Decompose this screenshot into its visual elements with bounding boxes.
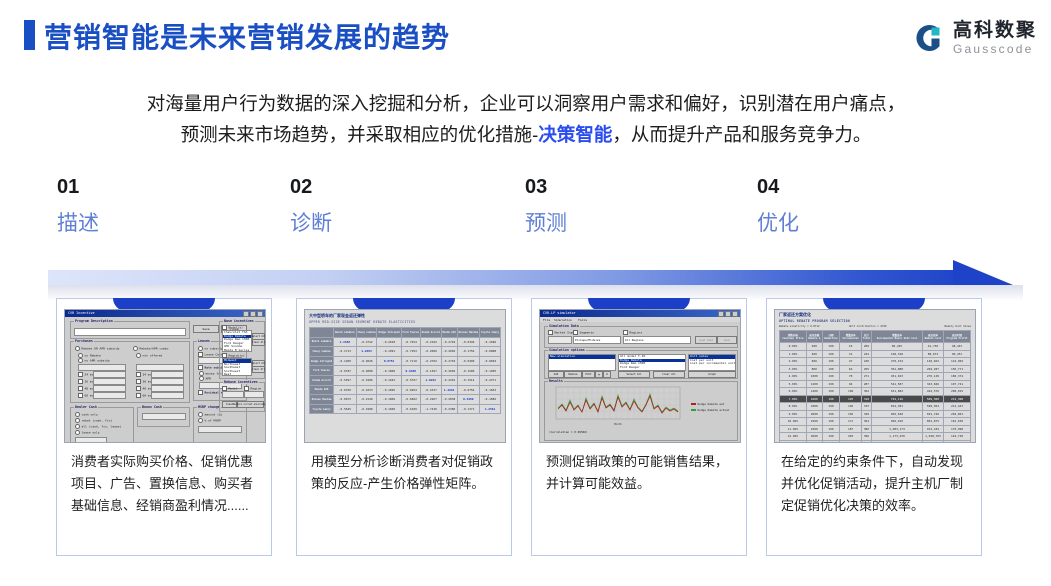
matrix-cell: -0.2794 <box>441 356 457 366</box>
logo-text: 高科数聚 Gausscode <box>953 21 1037 55</box>
matrix-row-header: Toyota Camry <box>310 404 334 414</box>
matrix-cell: -0.1642 <box>377 375 401 385</box>
matrix-cell: -0.5645 <box>334 404 357 414</box>
table-row: Honda Accord-0.5497-0.1986-0.1642-0.5767… <box>310 375 501 385</box>
optimal-cell: 364 <box>861 418 871 426</box>
optimal-cell: 451,023 <box>872 373 923 381</box>
table-row: Dodge Intrepid-0.1206-0.20260.8752-0.711… <box>310 356 501 366</box>
optimal-cell: 208,815 <box>944 388 971 396</box>
matrix-cell: 1.2683 <box>356 347 377 357</box>
optimal-meta-left: Rebate elasticity = 0.8712 <box>779 325 820 328</box>
matrix-col-header: Chevy Lumina <box>356 328 377 338</box>
optimal-cell: 10.00% <box>780 418 807 426</box>
intro-paragraph: 对海量用户行为数据的深入挖掘和分析，企业可以洞察用户需求和偏好，识别潜在用户痛点… <box>46 88 1006 150</box>
paragraph-line-2-before: 预测未来市场趋势，并采取相应的优化措施- <box>181 124 539 145</box>
group-rebase-incentives: Rebase incentives Model Region Clear Res… <box>219 382 265 412</box>
table-row: 12.00%26001902033961,173,4391,028,703144… <box>780 433 971 441</box>
matrix-col-header: Buick LaSabre <box>334 328 357 338</box>
optimal-cell: 912,184 <box>922 425 943 433</box>
matrix-row-header: Ford Taurus <box>310 366 334 376</box>
matrix-row-header: Honda Accord <box>310 375 334 385</box>
matrix-cell: -0.2669 <box>441 366 457 376</box>
matrix-cell: -0.7254 <box>401 337 420 347</box>
optimal-cell: 13.00% <box>780 440 807 443</box>
optimal-meta-right: Weekly Unit Sales <box>944 325 971 328</box>
optimal-cell: 197,741 <box>944 380 971 388</box>
progress-arrow <box>48 264 1013 292</box>
optimal-cell: 318 <box>861 395 871 403</box>
table-row: 6.00%1400190109302631,882422,570208,815 <box>780 388 971 396</box>
group-purchases: Purchases Rebate OR APR subsidy Rebate/A… <box>70 341 190 403</box>
logo-chinese-name: 高科数聚 <box>953 21 1037 40</box>
optimal-col-header: 返还利润Program Profit <box>944 331 971 343</box>
matrix-row-header: Mazda 626 <box>310 385 334 395</box>
matrix-cell: -0.1663 <box>480 385 501 395</box>
matrix-cell: -0.2606 <box>420 347 441 357</box>
matrix-row-header: Dodge Intrepid <box>310 356 334 366</box>
matrix-cell: -0.7110 <box>401 356 420 366</box>
matrix-cell: -0.1091 <box>377 347 401 357</box>
group-program-description: Program Description <box>70 321 190 339</box>
optimal-cell: 361,088 <box>872 365 923 373</box>
optimal-cell: 2200 <box>806 418 822 426</box>
optimal-cell: 6.00% <box>780 388 807 396</box>
matrix-cell: -0.2838 <box>441 395 457 405</box>
optimal-cell: 422,570 <box>922 388 943 396</box>
mini-titlebar: CVR-LP simulator <box>540 310 740 317</box>
table-row: 0.00%2001901620990,24541,73048,447 <box>780 343 971 351</box>
card-caption: 预测促销政策的可能销售结果，并计算可能效益。 <box>546 451 734 495</box>
optimal-cell: 156 <box>840 410 861 418</box>
optimal-cell: 801,875 <box>922 418 943 426</box>
optimal-cell: 90,245 <box>872 343 923 351</box>
optimal-cell: 88,672 <box>922 350 943 358</box>
optimal-meta-mid: Unit Contribution = $790 <box>849 325 886 328</box>
optimal-cell: 109 <box>840 388 861 396</box>
optimal-cell: 992,910 <box>872 418 923 426</box>
optimal-cell: 16 <box>840 343 861 351</box>
table-row: 4.00%100019078271451,023270,149180,374 <box>780 373 971 381</box>
matrix-cell: -0.1756 <box>457 347 480 357</box>
table-row: Nissan Maxima-0.6675-0.2149-0.1869-0.606… <box>310 395 501 405</box>
matrix-cell: -0.1905 <box>480 366 501 376</box>
optimal-cell: 722,116 <box>872 395 923 403</box>
card-screenshot-simulation: CVR-LP simulator File Simulation Tools S… <box>539 309 741 443</box>
matrix-cell: 1.1691 <box>441 385 457 395</box>
menu-file[interactable]: File <box>543 318 550 322</box>
optimal-cell: 47 <box>840 358 861 366</box>
matrix-cell: -0.1882 <box>480 395 501 405</box>
optimal-cell: 125 <box>840 395 861 403</box>
optimal-cell: 181,036 <box>944 418 971 426</box>
optimal-cell: 599,954 <box>922 403 943 411</box>
optimal-col-header: 销售价格Customer Price <box>780 331 807 343</box>
matrix-cell: -0.6766 <box>334 385 357 395</box>
optimal-cell: 170,990 <box>944 425 971 433</box>
matrix-cell: -0.2192 <box>420 337 441 347</box>
step-label: 描述 <box>57 211 287 237</box>
optimal-cell: 1,263,703 <box>872 440 923 443</box>
step-item-04: 04 优化 <box>757 176 987 237</box>
slide-header: 营销智能是未来营销发展的趋势 高科数聚 Gausscode <box>0 0 1051 72</box>
optimal-cell: 140,462 <box>922 358 943 366</box>
matrix-cell: -0.2018 <box>377 337 401 347</box>
optimal-cell: 204,861 <box>944 410 971 418</box>
slide-root: 营销智能是未来营销发展的趋势 高科数聚 Gausscode 对海量用户行为数据的… <box>0 0 1051 586</box>
optimal-cell: 200 <box>806 343 822 351</box>
optimal-cell: 171 <box>840 418 861 426</box>
matrix-col-header: Toyota Camry <box>480 328 501 338</box>
optimal-cell: 400 <box>806 350 822 358</box>
matrix-cell: -0.0490 <box>457 356 480 366</box>
group-simulation-options: Simulation options New simulation All mo… <box>544 350 738 379</box>
optimal-cell: 204,287 <box>922 365 943 373</box>
matrix-row-header: Nissan Maxima <box>310 395 334 405</box>
matrix-cell: -0.6189 <box>401 404 420 414</box>
optimal-cell: 691,746 <box>922 410 943 418</box>
matrix-cell: -0.2149 <box>356 395 377 405</box>
optimal-cell: 190 <box>822 350 840 358</box>
step-item-02: 02 诊断 <box>290 176 520 237</box>
matrix-cell: -0.7293 <box>401 347 420 357</box>
optimal-cell: 1,173,439 <box>872 433 923 441</box>
optimal-cell: 12.00% <box>780 433 807 441</box>
matrix-cell: 0.8752 <box>377 356 401 366</box>
optimal-cell: 31 <box>840 350 861 358</box>
model-listbox[interactable]: Chevrolet TSX Dodge Dakota Dodge Ram 150… <box>222 330 252 352</box>
menu-simulation[interactable]: Simulation <box>554 318 572 322</box>
matrix-row-header: Buick LaSabre <box>310 337 334 347</box>
optimal-cell: 78 <box>840 373 861 381</box>
optimal-cell: 2.00% <box>780 358 807 366</box>
group-results: Results <box>544 381 738 441</box>
optimal-col-header: 返还成本Rebate Cost <box>922 331 943 343</box>
matrix-cell: 1.0292 <box>420 375 441 385</box>
step-label: 诊断 <box>290 211 520 237</box>
optimal-cell: 41,730 <box>922 343 943 351</box>
optimal-cell: 212,427 <box>944 403 971 411</box>
optimal-cell: 190 <box>822 388 840 396</box>
optimal-cell: 2600 <box>806 433 822 441</box>
matrix-cell: -0.1500 <box>457 366 480 376</box>
optimal-cell: 168,328 <box>872 350 923 358</box>
table-row: 1.00%40019031224168,32888,67290,457 <box>780 350 971 358</box>
optimal-cell: 7.00% <box>780 395 807 403</box>
matrix-cell: -0.1660 <box>377 404 401 414</box>
optimal-cell: 349 <box>861 410 871 418</box>
optimal-cell: 411 <box>861 440 871 443</box>
matrix-cell: -0.1696 <box>480 337 501 347</box>
optimal-cell: 600 <box>806 358 822 366</box>
table-row: Toyota Camry-0.5645-0.1988-0.1660-0.6189… <box>310 404 501 414</box>
optimal-cell: 48,447 <box>944 343 971 351</box>
paragraph-line-1: 对海量用户行为数据的深入挖掘和分析，企业可以洞察用户需求和偏好，识别潜在用户痛点… <box>147 93 906 114</box>
matrix-cell: -0.2380 <box>441 404 457 414</box>
optimal-cell: 190 <box>822 418 840 426</box>
matrix-cell: -0.6675 <box>334 395 357 405</box>
correlation-footer: (Correlation = 0.96566) <box>549 430 588 434</box>
step-number: 01 <box>57 176 287 198</box>
optimal-cell: 62 <box>840 365 861 373</box>
optimal-cell: 224 <box>861 350 871 358</box>
optimal-cell: 1,151,517 <box>922 440 943 443</box>
matrix-cell: -0.1514 <box>457 375 480 385</box>
matrix-cell: 0.6480 <box>457 395 480 405</box>
matrix-cell: -0.2794 <box>441 337 457 347</box>
optimal-title-cn: 厂家返还方案优化 <box>779 312 811 318</box>
matrix-cell: -0.2702 <box>420 356 441 366</box>
sim-list-left[interactable]: New simulation <box>548 354 616 371</box>
step-item-03: 03 预测 <box>525 176 755 237</box>
table-row: 7.00%1600190125318722,116509,308212,308 <box>780 395 971 403</box>
optimal-cell: 270,149 <box>922 373 943 381</box>
card-screenshot-optimal: 厂家返还方案优化 OPTIMAL REBATE PROGRAM SELECTIO… <box>774 309 976 443</box>
matrix-cell: -0.1986 <box>356 375 377 385</box>
matrix-cell: -0.6062 <box>401 395 420 405</box>
optimal-cell: 270,154 <box>872 358 923 366</box>
matrix-cell: -0.0808 <box>480 347 501 357</box>
optimal-cell: 190 <box>822 365 840 373</box>
step-number: 04 <box>757 176 987 198</box>
matrix-cell: -0.0602 <box>480 356 501 366</box>
card-caption: 用模型分析诊断消费者对促销政策的反应-产生价格弹性矩阵。 <box>311 451 499 495</box>
group-base-incentives: Base incentives Model(s) Chevrolet TSX D… <box>219 321 265 379</box>
optimal-cell: 190 <box>822 440 840 443</box>
optimal-cell: 902,640 <box>872 410 923 418</box>
matrix-cell: -0.6787 <box>334 366 357 376</box>
optimal-cell: 212,308 <box>944 395 971 403</box>
optimal-cell: 8.00% <box>780 403 807 411</box>
card-row: CVR Incentive Program Description Purcha… <box>0 298 1051 560</box>
card-optimize[interactable]: 厂家返还方案优化 OPTIMAL REBATE PROGRAM SELECTIO… <box>766 298 982 556</box>
logo-mark-icon <box>911 21 945 55</box>
matrix-cell: -0.2088 <box>356 366 377 376</box>
optimal-cell: 333 <box>861 403 871 411</box>
matrix-cell: -0.5497 <box>334 375 357 385</box>
sim-list-metrics[interactable]: Unit sales Cost per unit Cost per increm… <box>688 354 736 371</box>
paragraph-highlight: 决策智能 <box>538 124 612 145</box>
optimal-cell: 187 <box>840 425 861 433</box>
table-row: Mazda 626-0.6766-0.2233-0.1895-0.6954-0.… <box>310 385 501 395</box>
table-row: 9.00%2000190156349902,640691,746204,861 <box>780 410 971 418</box>
matrix-cell: -0.1988 <box>356 404 377 414</box>
card-screenshot-elasticity: 大中型轿车的厂家现金返还弹性 UPPER MID-SIZE SEDAN SEGM… <box>304 309 506 443</box>
optimal-col-header: 增量成本Incremental Basic Unit Cost <box>872 331 923 343</box>
optimal-col-header: 总计Total <box>861 331 871 343</box>
optimal-cell: 287 <box>861 380 871 388</box>
optimal-cell: 255 <box>861 365 871 373</box>
optimal-cell: 1,083,174 <box>872 425 923 433</box>
matrix-cell: 1.1568 <box>334 337 357 347</box>
optimal-cell: 1800 <box>806 403 822 411</box>
optimal-cell: 0.00% <box>780 343 807 351</box>
matrix-cell: -0.2207 <box>420 395 441 405</box>
matrix-cell: -0.2291 <box>441 375 457 385</box>
optimal-cell: 1400 <box>806 388 822 396</box>
optimal-cell: 9.00% <box>780 410 807 418</box>
optimal-cell: 180,374 <box>944 373 971 381</box>
optimal-cell: 631,882 <box>872 388 923 396</box>
optimal-cell: 209 <box>861 343 871 351</box>
card-caption: 在给定的约束条件下，自动发现并优化促销活动，提升主机厂制定促销优化决策的效率。 <box>781 451 969 517</box>
matrix-cell: 0.9480 <box>401 366 420 376</box>
table-row: 3.00%80019062255361,088204,287156,771 <box>780 365 971 373</box>
optimal-cell: 190 <box>822 433 840 441</box>
matrix-col-header: Mazda 626 <box>441 328 457 338</box>
matrix-cell: -0.2271 <box>480 375 501 385</box>
optimal-cell: 240 <box>861 358 871 366</box>
step-item-01: 01 描述 <box>57 176 287 237</box>
optimal-cell: 1600 <box>806 395 822 403</box>
matrix-cell: -0.2337 <box>420 385 441 395</box>
optimal-cell: 190 <box>822 395 840 403</box>
optimal-cell: 271 <box>861 373 871 381</box>
step-label: 优化 <box>757 211 987 237</box>
optimal-cell: 343,846 <box>922 380 943 388</box>
optimal-cell: 396 <box>861 433 871 441</box>
mini-window-title: CVR-LP simulator <box>543 311 576 315</box>
optimal-cell: 218 <box>840 440 861 443</box>
table-row: 10.00%2200190171364992,910801,875181,036 <box>780 418 971 426</box>
optimal-cell: 190 <box>822 403 840 411</box>
group-bonus-cash: Bonus Cash <box>137 407 190 427</box>
optimal-cell: 190 <box>822 380 840 388</box>
matrix-col-header: Honda Accord <box>420 328 441 338</box>
optimal-cell: 190 <box>822 358 840 366</box>
table-row: 13.00%28001902184111,263,7031,151,517112… <box>780 440 971 443</box>
matrix-cell: -0.1497 <box>420 366 441 376</box>
optimal-cell: 541,587 <box>872 380 923 388</box>
table-row: Ford Taurus-0.6787-0.2088-0.18600.9480-0… <box>310 366 501 376</box>
optimal-cell: 1000 <box>806 373 822 381</box>
matrix-cell: -0.1371 <box>457 404 480 414</box>
matrix-cell: -0.0756 <box>457 385 480 395</box>
matrix-cell: 1.2561 <box>480 404 501 414</box>
matrix-title-cn: 大中型轿车的厂家现金返还弹性 <box>309 313 365 319</box>
brand-logo: 高科数聚 Gausscode <box>911 16 1037 60</box>
optimal-cell: 90,457 <box>944 350 971 358</box>
region-listbox[interactable]: Midwest Northeast Southeast Southwest We… <box>222 358 252 376</box>
optimal-cell: 190 <box>822 425 840 433</box>
matrix-cell: -1.7436 <box>420 404 441 414</box>
menu-tools[interactable]: Tools <box>578 318 587 322</box>
card-diagnose[interactable]: 大中型轿车的厂家现金返还弹性 UPPER MID-SIZE SEDAN SEGM… <box>296 298 512 556</box>
optimal-cell: 11.00% <box>780 425 807 433</box>
optimal-cell: 112,186 <box>944 440 971 443</box>
group-dealer-cash: Dealer Cash cash only rebat (cash, fin) … <box>70 407 134 443</box>
svg-text:Month: Month <box>614 422 622 426</box>
step-label-row: 01 描述 02 诊断 03 预测 04 优化 <box>0 176 1051 246</box>
optimal-cell: 2800 <box>806 440 822 443</box>
card-predict[interactable]: CVR-LP simulator File Simulation Tools S… <box>531 298 747 556</box>
matrix-cell: -0.1895 <box>377 385 401 395</box>
table-row: Chevy Lumina-0.17131.2683-0.1091-0.7293-… <box>310 347 501 357</box>
optimal-cell: 380 <box>861 425 871 433</box>
optimal-cell: 1200 <box>806 380 822 388</box>
optimal-cell: 190 <box>822 410 840 418</box>
matrix-cell: -0.2233 <box>356 385 377 395</box>
optimal-cell: 124,902 <box>944 358 971 366</box>
elasticity-matrix-table: Buick LaSabreChevy LuminaDodge IntrepidF… <box>309 327 501 414</box>
optimal-cell: 190 <box>822 343 840 351</box>
group-simulation-data: Simulation Data Market Input Segments Re… <box>544 326 738 348</box>
optimal-table: 销售价格Customer Price返还金额Rebate $分期Reductio… <box>779 330 971 443</box>
simulation-line-chart: Month <box>548 386 682 426</box>
step-label: 预测 <box>525 211 755 237</box>
step-number: 02 <box>290 176 520 198</box>
matrix-cell: -0.2002 <box>441 347 457 357</box>
mini-save-button[interactable]: Save <box>193 325 219 333</box>
chart-legend: Dodge Dakota est Dodge Dakota actual <box>691 402 730 412</box>
optimal-col-header: 返还金额Rebate $ <box>806 331 822 343</box>
table-row: 11.00%24001901873801,083,174912,184170,9… <box>780 425 971 433</box>
matrix-cell: -0.2742 <box>356 337 377 347</box>
optimal-cell: 2400 <box>806 425 822 433</box>
arrow-head-icon <box>953 260 1013 285</box>
optimal-cell: 509,308 <box>922 395 943 403</box>
optimal-cell: 2000 <box>806 410 822 418</box>
mini-window-title: CVR Incentive <box>68 311 95 315</box>
table-row: 2.00%60019047240270,154140,462124,902 <box>780 358 971 366</box>
arrow-shaft <box>48 270 968 285</box>
title-accent-bar <box>24 20 35 50</box>
sim-list-models[interactable]: All model T-20 Dodge Dakota Dodge Ram 15… <box>618 354 686 371</box>
matrix-cell: -0.0340 <box>457 337 480 347</box>
matrix-cell: -0.1869 <box>377 395 401 405</box>
table-row: Buick LaSabre1.1568-0.2742-0.2018-0.7254… <box>310 337 501 347</box>
step-number: 03 <box>525 176 755 198</box>
optimal-title-en: OPTIMAL REBATE PROGRAM SELECTION <box>779 319 850 323</box>
optimal-cell: 144,736 <box>944 433 971 441</box>
table-row: 5.00%120019094287541,587343,846197,741 <box>780 380 971 388</box>
optimal-cell: 1,028,703 <box>922 433 943 441</box>
table-row: 8.00%1800190140333812,381599,954212,427 <box>780 403 971 411</box>
matrix-cell: -0.1206 <box>334 356 357 366</box>
matrix-row-header: Chevy Lumina <box>310 347 334 357</box>
optimal-cell: 156,771 <box>944 365 971 373</box>
matrix-cell: -0.2026 <box>356 356 377 366</box>
optimal-cell: 4.00% <box>780 373 807 381</box>
optimal-cell: 94 <box>840 380 861 388</box>
matrix-col-header: Ford Taurus <box>401 328 420 338</box>
optimal-cell: 5.00% <box>780 380 807 388</box>
optimal-cell: 302 <box>861 388 871 396</box>
optimal-col-header: 分期Reduction <box>822 331 840 343</box>
optimal-cell: 800 <box>806 365 822 373</box>
optimal-cell: 812,381 <box>872 403 923 411</box>
matrix-col-header: Dodge Intrepid <box>377 328 401 338</box>
matrix-title-en: UPPER MID-SIZE SEDAN SEGMENT REBATE ELAS… <box>309 320 416 324</box>
matrix-cell: -0.5767 <box>401 375 420 385</box>
optimal-cell: 190 <box>822 373 840 381</box>
card-caption: 消费者实际购买价格、促销优惠项目、广告、置换信息、购买者基础信息、经销商盈利情况… <box>71 451 259 517</box>
paragraph-line-2-after: ，从而提升产品和服务竞争力。 <box>612 124 871 145</box>
logo-english-name: Gausscode <box>953 43 1037 55</box>
page-title: 营销智能是未来营销发展的趋势 <box>44 16 450 56</box>
optimal-cell: 203 <box>840 433 861 441</box>
optimal-col-header: 增量成本Incremental <box>840 331 861 343</box>
optimal-cell: 3.00% <box>780 365 807 373</box>
matrix-cell: -0.1860 <box>377 366 401 376</box>
optimal-cell: 1.00% <box>780 350 807 358</box>
matrix-col-header: Nissan Maxima <box>457 328 480 338</box>
matrix-cell: -0.6954 <box>401 385 420 395</box>
matrix-cell: -0.1713 <box>334 347 357 357</box>
optimal-cell: 140 <box>840 403 861 411</box>
card-screenshot-dialog: CVR Incentive Program Description Purcha… <box>64 309 266 443</box>
card-describe[interactable]: CVR Incentive Program Description Purcha… <box>56 298 272 556</box>
